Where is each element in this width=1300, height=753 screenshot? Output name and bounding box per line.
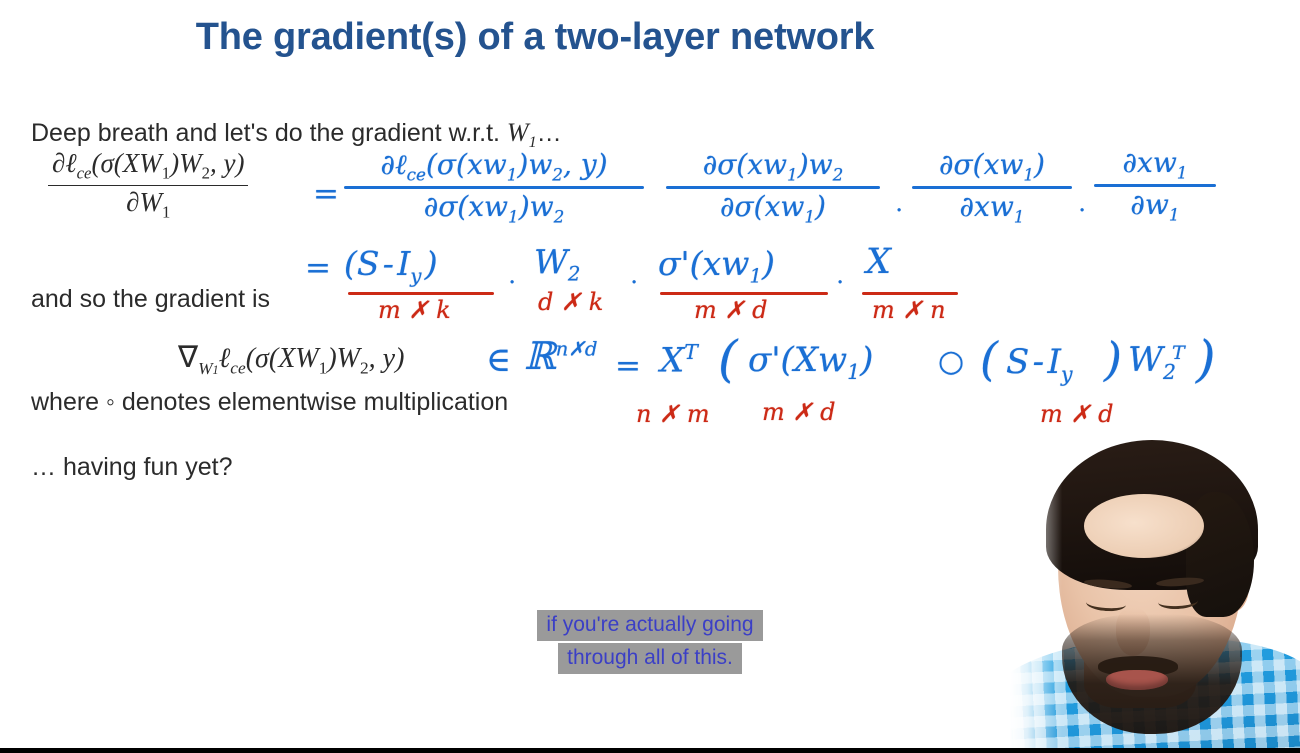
handwritten-term-sigma-prime: σ'(xw1) [658,244,775,288]
handwritten-equals-row2: = [305,250,331,286]
handwritten-term-X-transpose: XT [660,340,698,380]
body-line-and-so: and so the gradient is [31,285,270,314]
caption-row-1: if you're actually going [0,610,1300,641]
handwritten-term-W2: W2 [534,242,581,286]
handwritten-open-paren-outer: ( [718,330,738,388]
slide-canvas: The gradient(s) of a two-layer network D… [0,0,1300,753]
dim-label-sigma-prime: m ✗ d [694,296,768,324]
real-space-symbol: ℝ [524,334,556,378]
chain-fraction-4-denominator: ∂w1 [1094,187,1216,224]
page-title: The gradient(s) of a two-layer network [0,16,1070,59]
handwritten-chain-fraction-1: ∂ℓce(σ(xw1)w2, y) ∂σ(xw1)w2 [344,150,644,226]
dim-label-X: m ✗ n [872,296,946,324]
deep-breath-prefix: Deep breath and let's do the gradient w.… [31,119,507,147]
handwritten-dot-row2-3: · [836,268,844,298]
handwritten-equals-row3: = [615,348,641,384]
handwritten-S-minus-Iy-row3: S - Iy [1006,342,1073,386]
caption-container: if you're actually going through all of … [0,610,1300,676]
W2-transpose-exponent: T [1172,342,1185,364]
handwritten-W2-transpose: W2T [1128,340,1185,384]
body-line-having-fun: … having fun yet? [31,453,233,482]
handwritten-element-of-symbol: ∈ [486,340,511,380]
caption-line-2: through all of this. [558,643,742,674]
chain-fraction-2-denominator: ∂σ(xw1) [666,189,880,226]
deep-breath-suffix: … [537,119,562,147]
handwritten-sigma-prime-row3: σ'(Xw1) [748,340,873,384]
handwritten-close-paren-inner: ) [1104,332,1122,386]
chain-fraction-3-numerator: ∂σ(xw1) [912,150,1072,186]
dim-label-X-transpose: n ✗ m [636,400,710,428]
X-transpose-exponent: T [684,340,698,364]
redbar-sigma-prime [660,292,828,295]
bottom-black-bar [0,748,1300,753]
caption-line-1: if you're actually going [537,610,762,641]
handwritten-dot-row2-2: · [630,268,638,298]
printed-derivative-denominator: ∂W1 [48,186,248,221]
printed-derivative-fraction: ∂ℓce(σ(XW1)W2, y) ∂W1 [48,150,248,221]
X-transpose-base: X [660,340,684,380]
handwritten-dot-1: · [895,196,903,226]
handwritten-term-X: X [866,242,891,282]
handwritten-hadamard-circ: ○ [938,344,964,379]
dim-label-sigma-prime-row3: m ✗ d [762,398,836,426]
chain-fraction-4-numerator: ∂xw1 [1094,148,1216,184]
real-space-exponent: n✗d [556,337,598,360]
handwritten-real-space: ℝn✗d [524,334,598,378]
handwritten-close-paren-outer: ) [1196,330,1216,388]
body-line-where: where ◦ denotes elementwise multiplicati… [31,388,508,417]
handwritten-chain-fraction-2: ∂σ(xw1)w2 ∂σ(xw1) [666,150,880,226]
handwritten-equals-row1: = [313,176,339,212]
dim-label-S-minus-Iy: m ✗ k [378,296,451,324]
handwritten-term-S-minus-Iy: (S - Iy ) [344,244,438,288]
handwritten-chain-fraction-4: ∂xw1 ∂w1 [1094,148,1216,224]
handwritten-dot-row2-1: · [508,268,516,298]
caption-row-2: through all of this. [0,643,1300,674]
printed-gradient-expression: ∇W1ℓce(σ(XW1)W2, y) [178,340,404,379]
presenter-forehead-highlight [1084,494,1204,558]
handwritten-chain-fraction-3: ∂σ(xw1) ∂xw1 [912,150,1072,226]
dim-label-W2: d ✗ k [538,288,603,316]
chain-fraction-1-numerator: ∂ℓce(σ(xw1)w2, y) [344,150,644,186]
handwritten-dot-2: · [1078,196,1086,226]
redbar-X [862,292,958,295]
redbar-S-minus-Iy [348,292,494,295]
chain-fraction-3-denominator: ∂xw1 [912,189,1072,226]
handwritten-open-paren-inner: ( [980,332,998,386]
printed-derivative-numerator: ∂ℓce(σ(XW1)W2, y) [48,150,248,185]
chain-fraction-2-numerator: ∂σ(xw1)w2 [666,150,880,186]
presenter-video-overlay[interactable] [1010,432,1300,753]
chain-fraction-1-denominator: ∂σ(xw1)w2 [344,189,644,226]
deep-breath-var-letter: W [507,118,529,147]
dim-label-S-W2-transpose: m ✗ d [1040,400,1114,428]
deep-breath-variable: W1 [507,118,537,147]
